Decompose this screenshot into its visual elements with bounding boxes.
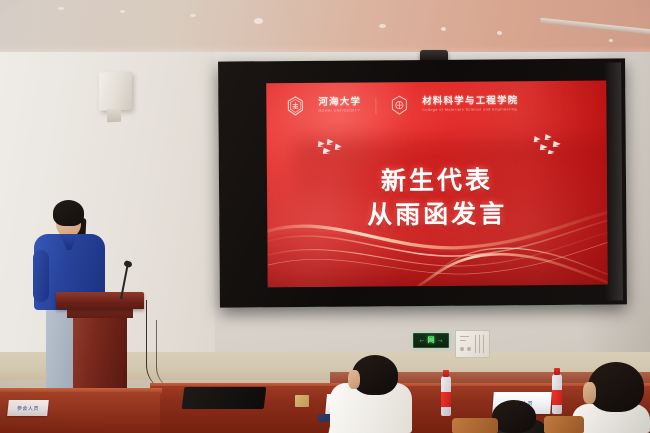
- exit-left-arrow-icon: ←: [419, 337, 426, 344]
- placard-text: 参会人员: [17, 405, 40, 412]
- slide-title-line-1: 新生代表: [267, 163, 607, 200]
- dove-flock-icon: [529, 131, 571, 160]
- display-monitor-icon: [182, 387, 267, 409]
- ceiling-light-icon: [190, 14, 196, 17]
- ceiling-light-icon: [441, 27, 446, 31]
- led-screen-frame: 河海大学 HOHAI UNIVERSITY 材料科学与工程学院 College …: [218, 58, 627, 307]
- wall-speaker-icon: [99, 71, 132, 110]
- chair-icon: [452, 418, 498, 433]
- ceiling-light-icon: [497, 31, 502, 35]
- attendee-head: [492, 400, 536, 433]
- bottle-label: [552, 390, 562, 405]
- speaker-arm: [33, 250, 49, 302]
- water-bottle-icon: [441, 376, 451, 416]
- ceiling-rail: [540, 18, 650, 36]
- ceiling-light-icon: [379, 24, 386, 28]
- water-bottle-icon: [552, 374, 562, 414]
- attendee-face: [583, 382, 596, 404]
- wall-control-panel-icon: [455, 330, 490, 358]
- bottle-label: [441, 392, 451, 407]
- bottle-cap: [443, 370, 449, 377]
- chair-icon: [544, 416, 584, 433]
- slide-brand-bar: 河海大学 HOHAI UNIVERSITY 材料科学与工程学院 College …: [286, 94, 518, 116]
- box-icon: [295, 395, 309, 407]
- college-name-block: 材料科学与工程学院 College of Materials Science a…: [422, 96, 518, 112]
- presentation-slide: 河海大学 HOHAI UNIVERSITY 材料科学与工程学院 College …: [266, 81, 608, 288]
- university-crest-icon: [286, 96, 304, 116]
- dove-flock-icon: [315, 135, 355, 162]
- name-placard: 参会人员: [7, 400, 49, 416]
- podium-neck: [67, 309, 133, 318]
- attendee-face: [348, 370, 360, 389]
- university-name-en: HOHAI UNIVERSITY: [318, 109, 361, 114]
- ribbon-wave-graphic: [267, 209, 608, 288]
- exit-right-arrow-icon: →: [437, 337, 444, 344]
- speaker-hair: [53, 200, 84, 226]
- college-crest-icon: [390, 95, 408, 115]
- ceiling-light-icon: [58, 7, 64, 10]
- photo-scene: 河海大学 HOHAI UNIVERSITY 材料科学与工程学院 College …: [0, 0, 650, 433]
- emergency-exit-sign: ← 网 →: [413, 333, 449, 348]
- ceiling-light-icon: [120, 10, 125, 13]
- ceiling-light-icon: [609, 39, 613, 42]
- ceiling-light-icon: [254, 18, 263, 24]
- attendee-head: [588, 362, 644, 412]
- cable-icon: [156, 320, 179, 390]
- college-name-en: College of Materials Science and Enginee…: [422, 107, 518, 112]
- podium-top: [56, 292, 144, 309]
- university-name-block: 河海大学 HOHAI UNIVERSITY: [318, 98, 361, 114]
- bottle-cap: [554, 368, 560, 375]
- university-name-cn: 河海大学: [318, 98, 361, 108]
- college-name-cn: 材料科学与工程学院: [422, 96, 518, 107]
- brand-divider: [375, 97, 376, 114]
- exit-sign-text: 网: [428, 337, 435, 344]
